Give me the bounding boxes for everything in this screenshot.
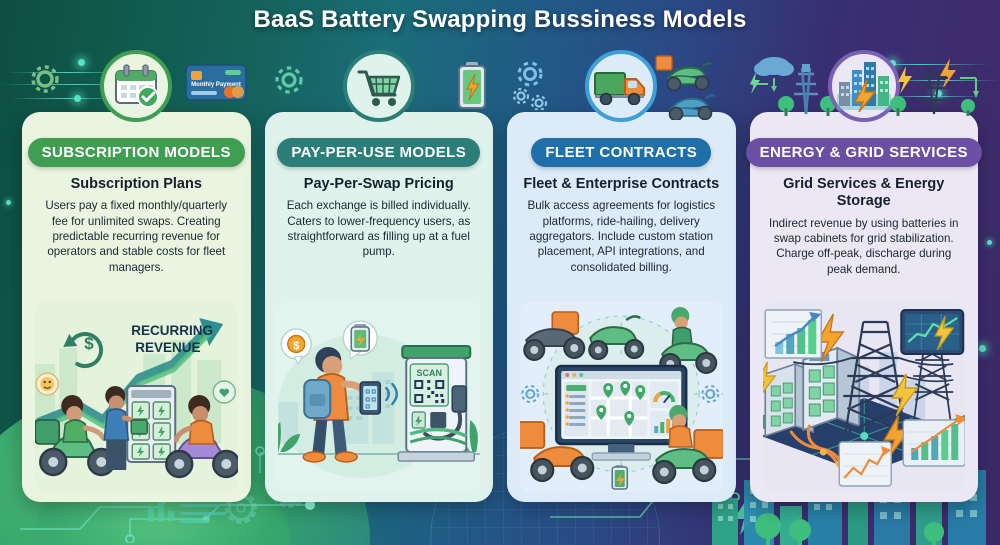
- panel-badge: SUBSCRIPTION MODELS: [28, 138, 245, 167]
- panel-title: Pay-Per-Swap Pricing: [302, 176, 456, 193]
- panel-body: Bulk access agreements for logistics pla…: [517, 198, 726, 274]
- panel-title: Grid Services & Energy Storage: [760, 176, 969, 211]
- panel-subscription-models[interactable]: Monthly Payment SUBSCRIPTION MODELS Subs…: [22, 112, 251, 502]
- smiley-bubble: [36, 373, 58, 395]
- page-title: BaaS Battery Swapping Bussiness Models: [0, 6, 1000, 34]
- calendar-check-icon: [100, 50, 172, 122]
- cloud-icon: [754, 57, 794, 76]
- qr-scan-illustration: $: [278, 302, 481, 492]
- svg-text:$: $: [84, 334, 94, 353]
- line-chart-panel: [839, 442, 891, 486]
- fleet-dashboard-illustration: [520, 302, 723, 492]
- battery-icon: [612, 465, 627, 489]
- svg-text:$: $: [293, 340, 299, 352]
- power-pylon-icon: [794, 64, 818, 114]
- illustration-caption-line1: RECURRING: [131, 323, 213, 338]
- green-scooter-icon: [656, 56, 712, 91]
- panel-icon-cluster: [265, 54, 494, 118]
- gear-icon: [513, 58, 563, 110]
- swap-kiosk: SCAN: [398, 346, 474, 461]
- panel-icon-cluster: Monthly Payment: [22, 54, 251, 118]
- blue-scooter-icon: [669, 95, 715, 120]
- gear-icon: [271, 62, 307, 98]
- panel-icon-cluster: [750, 54, 979, 118]
- panel-fleet-contracts[interactable]: FLEET CONTRACTS Fleet & Enterprise Contr…: [507, 112, 736, 502]
- panel-badge: ENERGY & GRID SERVICES: [746, 138, 982, 167]
- grid-energy-illustration: [763, 302, 966, 492]
- credit-card-icon: Monthly Payment: [185, 62, 247, 107]
- panels-row: Monthly Payment SUBSCRIPTION MODELS Subs…: [22, 112, 978, 502]
- shopping-cart-icon: [343, 50, 415, 122]
- delivery-truck-icon: [585, 50, 657, 122]
- panel-badge: PAY-PER-USE MODELS: [277, 138, 480, 167]
- panel-energy-grid-services[interactable]: ENERGY & GRID SERVICES Grid Services & E…: [750, 112, 979, 502]
- flow-arrow: [960, 78, 979, 98]
- lightning-icon: [940, 58, 956, 90]
- panel-body: Users pay a fixed monthly/quarterly fee …: [32, 198, 241, 274]
- glow-node: [6, 200, 11, 205]
- panel-title: Fleet & Enterprise Contracts: [521, 176, 721, 193]
- panel-pay-per-use-models[interactable]: PAY-PER-USE MODELS Pay-Per-Swap Pricing …: [265, 112, 494, 502]
- tree-icon: [755, 513, 944, 545]
- panel-icon-cluster: [507, 54, 736, 118]
- credit-card-label: Monthly Payment: [191, 82, 241, 88]
- battery-bolt-icon: [455, 60, 489, 115]
- illustration-caption-line2: REVENUE: [135, 340, 200, 355]
- panel-title: Subscription Plans: [69, 176, 204, 193]
- kiosk-label: SCAN: [416, 368, 442, 378]
- line-chart-panel: [901, 310, 963, 354]
- growth-chart-panel: [765, 310, 821, 358]
- panel-badge: FLEET CONTRACTS: [531, 138, 711, 167]
- recurring-revenue-illustration: $ RECURRING REVENUE: [35, 302, 238, 492]
- pylon-lightning-icon: [886, 54, 982, 116]
- scooters-icon: [654, 52, 732, 125]
- panel-body: Indirect revenue by using batteries in s…: [760, 216, 969, 277]
- gear-icon: [28, 62, 62, 96]
- glow-node: [979, 345, 986, 352]
- bar-chart-deco: [148, 499, 174, 521]
- infographic-canvas: BaaS Battery Swapping Bussiness Models: [0, 0, 1000, 545]
- power-pylon-icon: [916, 70, 952, 114]
- bar-chart-panel: [903, 414, 965, 466]
- lightning-icon: [898, 66, 912, 94]
- glow-node: [987, 240, 992, 245]
- heart-bubble: [213, 381, 235, 403]
- power-line: [899, 358, 953, 365]
- panel-body: Each exchange is billed individually. Ca…: [275, 198, 484, 259]
